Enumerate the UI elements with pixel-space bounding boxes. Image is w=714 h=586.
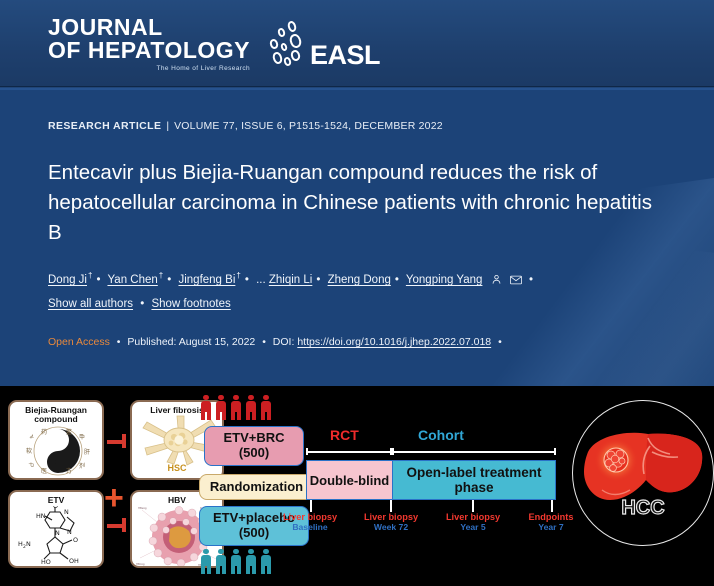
pubinfo-separator: •	[498, 336, 502, 348]
easl-logo[interactable]: EASL	[266, 21, 380, 73]
doi-label: DOI:	[273, 336, 295, 348]
span-rule-rct	[306, 448, 392, 455]
author-email-icon[interactable]	[510, 275, 522, 288]
phase-double-blind: Double-blind	[307, 461, 393, 499]
author-footnote-marker: †	[88, 271, 92, 280]
page-root: JOURNAL OF HEPATOLOGY The Home of Liver …	[0, 0, 714, 586]
pubinfo-separator: •	[117, 336, 121, 348]
author-name[interactable]: Yongping Yang	[406, 274, 483, 286]
author-name[interactable]: Jingfeng Bi	[178, 274, 235, 286]
arm-box-treatment: ETV+BRC (500)	[204, 426, 304, 466]
author-name[interactable]: Yan Chen	[107, 274, 157, 286]
journal-name-line2: OF HEPATOLOGY	[48, 39, 250, 62]
phase-open-label: Open-label treatment phase	[393, 461, 555, 499]
figure-box-etv: ETV HN N N N H	[8, 490, 104, 568]
herb-illustration: 草 药 鳖 甲 软 肝 中 医 方 剂	[24, 426, 92, 476]
svg-text:医: 医	[41, 468, 47, 475]
article-type-label[interactable]: RESEARCH ARTICLE	[48, 120, 161, 132]
author-name[interactable]: Zheng Dong	[328, 274, 391, 286]
author-separator: •	[167, 274, 171, 286]
span-rule-cohort	[392, 448, 556, 455]
figure-box-brc-label: Biejia-Ruangan compound	[10, 406, 102, 425]
author-name[interactable]: Dong Ji	[48, 274, 87, 286]
author-ellipsis: ...	[256, 274, 266, 286]
phase-label-cohort: Cohort	[418, 427, 464, 443]
person-icon	[200, 549, 212, 574]
study-phase-bar: Double-blind Open-label treatment phase	[306, 460, 556, 500]
meta-separator: |	[166, 120, 169, 132]
svg-text:N: N	[26, 540, 31, 548]
show-footnotes-link[interactable]: Show footnotes	[151, 298, 230, 310]
randomization-box: Randomization	[199, 474, 314, 500]
journal-logo[interactable]: JOURNAL OF HEPATOLOGY The Home of Liver …	[48, 16, 250, 73]
person-icon	[260, 395, 272, 420]
show-all-authors-link[interactable]: Show all authors	[48, 298, 133, 310]
svg-text:O: O	[53, 506, 58, 510]
figure-box-etv-label: ETV	[10, 496, 102, 505]
easl-wordmark: EASL	[310, 42, 380, 71]
author-separator: •	[395, 274, 399, 286]
author-separator: •	[245, 274, 249, 286]
svg-text:药: 药	[41, 428, 47, 436]
svg-text:肝: 肝	[84, 449, 90, 456]
timeline-tick	[390, 500, 392, 512]
published-date: Published: August 15, 2022	[127, 336, 255, 348]
person-icon	[200, 395, 212, 420]
journal-tagline: The Home of Liver Research	[48, 66, 250, 73]
publication-info: Open Access • Published: August 15, 2022…	[48, 336, 506, 348]
person-icon	[215, 549, 227, 574]
author-name[interactable]: Zhiqin Li	[269, 274, 312, 286]
author-separator: •	[529, 274, 533, 286]
svg-text:方: 方	[66, 467, 72, 475]
timeline-tick	[551, 500, 553, 512]
people-group-treatment	[200, 395, 272, 420]
timeline-tick	[472, 500, 474, 512]
outcome-hcc-circle: HCC	[572, 400, 714, 546]
person-icon	[245, 395, 257, 420]
svg-text:甲: 甲	[79, 434, 85, 441]
link-separator: •	[140, 298, 144, 310]
etv-chemical-structure: HN N N N H 2 N O O OH HO	[14, 506, 102, 568]
svg-text:HN: HN	[36, 512, 46, 520]
svg-text:剂: 剂	[79, 462, 85, 470]
svg-text:中: 中	[28, 462, 34, 470]
svg-text:鳖: 鳖	[66, 428, 72, 436]
easl-cells-icon	[266, 21, 308, 71]
author-profile-icon[interactable]	[491, 274, 502, 288]
issue-label[interactable]: VOLUME 77, ISSUE 6, P1515-1524, DECEMBER…	[174, 120, 443, 132]
open-access-badge[interactable]: Open Access	[48, 336, 110, 348]
arm-treatment-count: (500)	[223, 446, 284, 461]
author-disclosure-links: Show all authors • Show footnotes	[48, 298, 231, 310]
phase-label-rct: RCT	[330, 427, 359, 443]
plus-sign: +	[104, 481, 124, 515]
person-icon	[230, 549, 242, 574]
article-title: Entecavir plus Biejia-Ruangan compound r…	[48, 158, 658, 248]
svg-text:HBcAg: HBcAg	[136, 562, 145, 566]
person-icon	[215, 395, 227, 420]
person-icon	[245, 549, 257, 574]
svg-text:HBsAg: HBsAg	[138, 506, 147, 510]
journal-name-line1: JOURNAL	[48, 16, 250, 39]
person-icon	[260, 549, 272, 574]
author-separator: •	[96, 274, 100, 286]
author-footnote-marker: †	[236, 271, 240, 280]
svg-text:N: N	[67, 528, 72, 536]
svg-text:草: 草	[28, 432, 34, 440]
doi-link[interactable]: https://doi.org/10.1016/j.jhep.2022.07.0…	[297, 336, 491, 348]
author-footnote-marker: †	[159, 271, 163, 280]
svg-text:OH: OH	[69, 557, 79, 565]
figure-box-brc: Biejia-Ruangan compound 草 药 鳖 甲 软 肝 中	[8, 400, 104, 480]
people-group-control	[200, 549, 272, 574]
graphical-abstract: Biejia-Ruangan compound 草 药 鳖 甲 软 肝 中	[0, 386, 714, 586]
svg-text:软: 软	[26, 447, 32, 455]
hcc-label: HCC	[572, 497, 714, 520]
person-icon	[230, 395, 242, 420]
masthead[interactable]: JOURNAL OF HEPATOLOGY The Home of Liver …	[48, 16, 380, 73]
svg-text:O: O	[73, 536, 78, 544]
svg-text:HO: HO	[41, 558, 51, 566]
svg-text:N: N	[55, 529, 60, 537]
inhibition-arrow-etv-hbv	[107, 518, 129, 532]
pubinfo-separator: •	[262, 336, 266, 348]
arm-treatment-label: ETV+BRC	[223, 431, 284, 446]
svg-text:N: N	[64, 508, 69, 516]
inhibition-arrow-brc-fibrosis	[107, 434, 129, 448]
author-list: Dong Ji†• Yan Chen†• Jingfeng Bi†• ... Z…	[48, 271, 688, 288]
timeline-tick	[310, 500, 312, 512]
article-meta: RESEARCH ARTICLE|VOLUME 77, ISSUE 6, P15…	[48, 120, 443, 132]
article-header-panel: JOURNAL OF HEPATOLOGY The Home of Liver …	[0, 0, 714, 386]
author-separator: •	[316, 274, 320, 286]
